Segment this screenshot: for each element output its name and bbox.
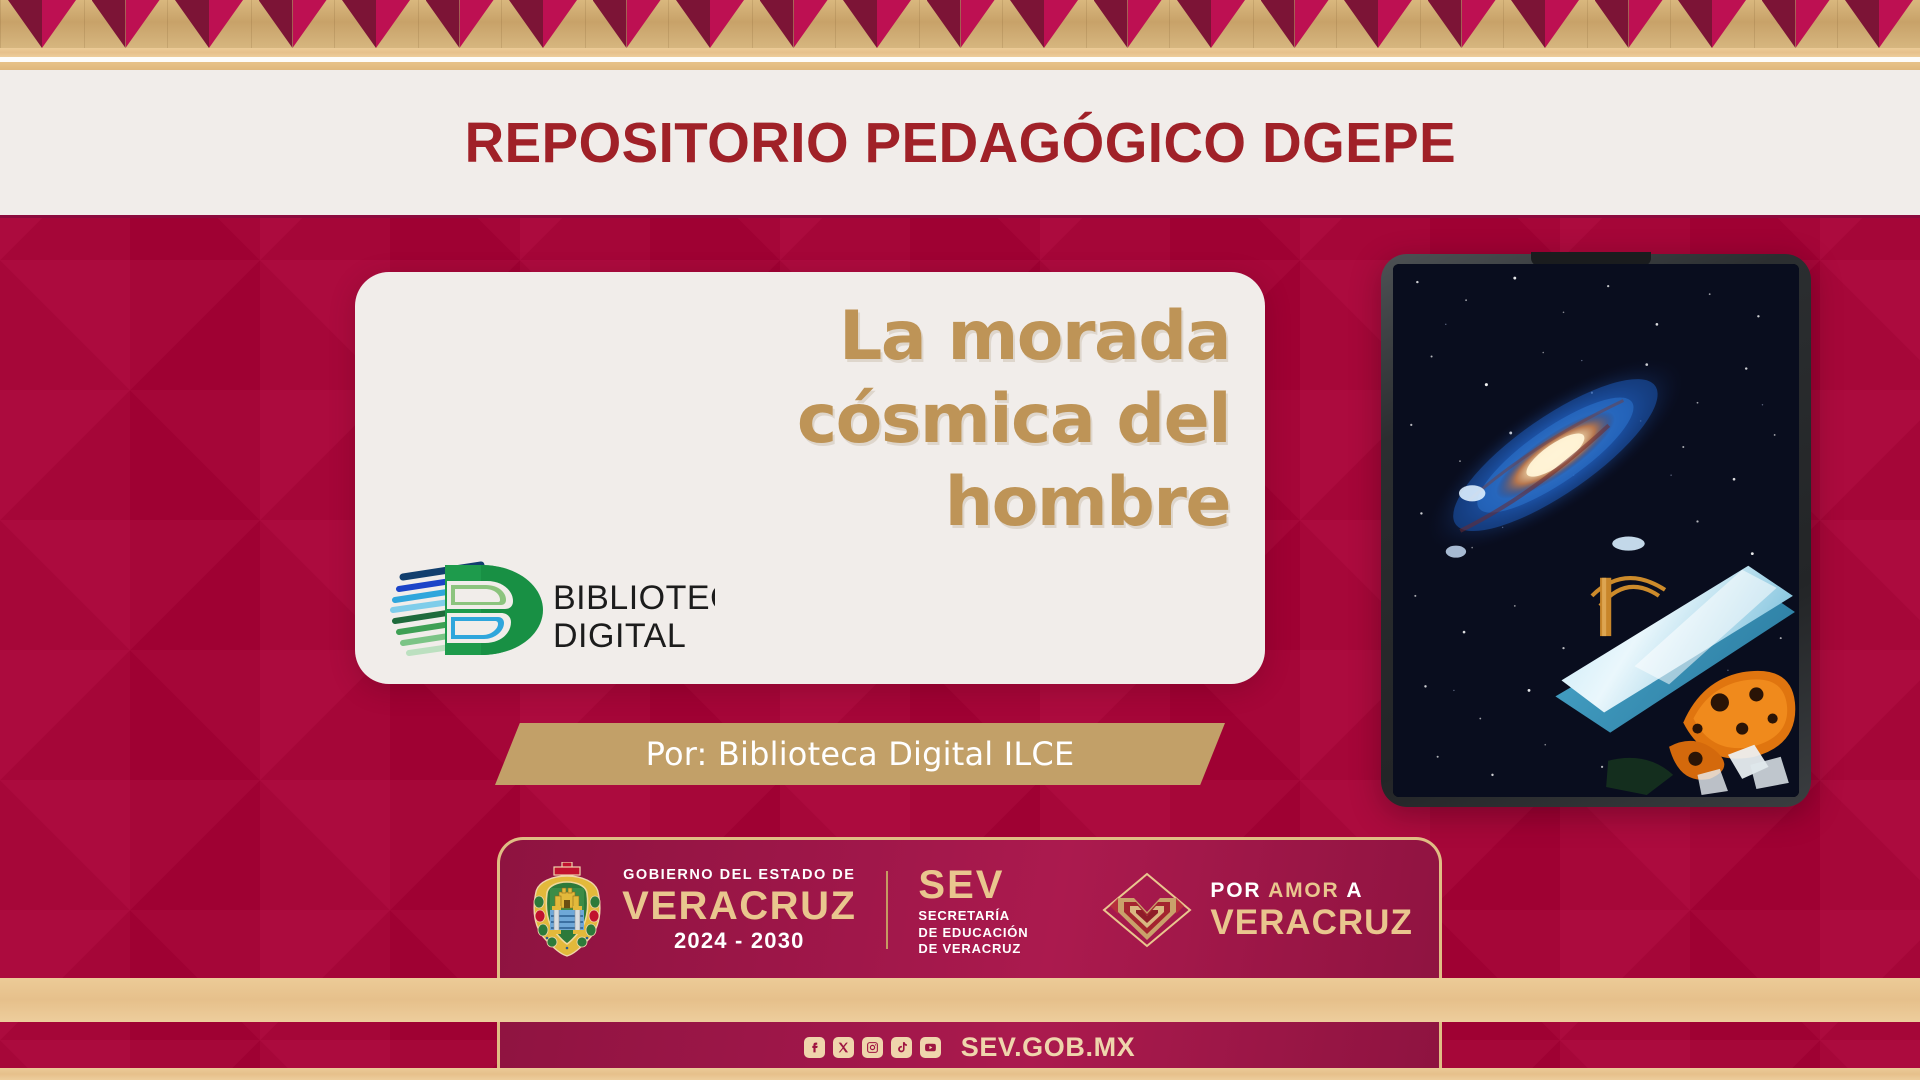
triangle-bright [460,0,494,48]
triangle-unit [167,0,251,48]
triangle-dark [1511,0,1545,48]
book-title-line-1: La morada [700,296,1230,379]
triangle-bright [794,0,828,48]
book-title: La morada cósmica del hombre [700,296,1230,545]
author-banner: Por: Biblioteca Digital ILCE [495,723,1225,785]
svg-text:DIGITAL: DIGITAL [553,617,686,655]
triangle-dark [259,0,293,48]
triangle-bright [627,0,661,48]
tablet-screen [1393,264,1799,797]
author-label: Por: Biblioteca Digital ILCE [646,735,1075,773]
triangle-bright [1796,0,1830,48]
triangle-dark [927,0,961,48]
biblioteca-digital-logo: BIBLIOTECA DIGITAL [385,551,715,659]
sev-subline-1: SECRETARÍA [918,909,1028,923]
social-links-row: SEV.GOB.MX [500,1032,1439,1063]
book-title-line-3: hombre [700,462,1230,545]
triangle-dark [342,0,376,48]
triangle-dark [509,0,543,48]
triangle-bright [42,0,76,48]
top-gold-band [0,48,1920,57]
triangle-unit [919,0,1003,48]
por-amor-a-veracruz-lockup: POR AMOR A VERACRUZ [1100,870,1412,950]
header-bar: REPOSITORIO PEDAGÓGICO DGEPE [0,70,1920,215]
triangle-dark [1344,0,1378,48]
triangle-dark [426,0,460,48]
heart-diamond-mark-icon [1100,870,1194,950]
triangle-bright [877,0,911,48]
triangle-bright [1629,0,1663,48]
amor-highlight: AMOR [1268,879,1339,902]
triangle-dark [1261,0,1295,48]
triangle-dark [1845,0,1879,48]
government-wordmark: GOBIERNO DEL ESTADO DE VERACRUZ 2024 - 2… [622,868,856,952]
triangle-unit [418,0,502,48]
instagram-icon[interactable] [862,1037,883,1058]
triangle-bright [126,0,160,48]
government-lockup: GOBIERNO DEL ESTADO DE VERACRUZ 2024 - 2… [526,862,1028,958]
page-title: REPOSITORIO PEDAGÓGICO DGEPE [464,110,1455,176]
amor-prefix: POR [1210,879,1268,902]
triangle-bright [1295,0,1329,48]
youtube-icon[interactable] [920,1037,941,1058]
triangle-unit [1837,0,1920,48]
svg-text:BIBLIOTECA: BIBLIOTECA [553,579,715,617]
footer-logo-row: GOBIERNO DEL ESTADO DE VERACRUZ 2024 - 2… [500,862,1439,958]
top-triangle-border [0,0,1920,48]
veracruz-coat-of-arms-icon [526,862,608,958]
triangle-unit [334,0,418,48]
sev-lockup: SEV SECRETARÍA DE EDUCACIÓN DE VERACRUZ [918,864,1028,956]
triangle-dark [1762,0,1796,48]
triangle-unit [0,0,84,48]
triangle-unit [1503,0,1587,48]
triangle-dark [1428,0,1462,48]
triangle-dark [676,0,710,48]
triangle-bright [1879,0,1913,48]
triangle-dark [92,0,126,48]
tablet-device-mockup [1381,254,1811,807]
footer-divider [886,871,888,949]
triangle-unit [668,0,752,48]
triangle-bright [1211,0,1245,48]
x-twitter-icon[interactable] [833,1037,854,1058]
triangle-bright [1712,0,1746,48]
triangle-unit [1253,0,1337,48]
government-line-1: GOBIERNO DEL ESTADO DE [623,868,855,883]
footer-panel: GOBIERNO DEL ESTADO DE VERACRUZ 2024 - 2… [497,837,1442,1080]
sev-subline-2: DE EDUCACIÓN [918,926,1028,940]
title-card: La morada cósmica del hombre [355,272,1265,684]
triangle-dark [1678,0,1712,48]
header-bottom-edge [0,215,1920,218]
triangle-bright [1462,0,1496,48]
triangle-unit-row [0,0,1920,48]
triangle-bright [543,0,577,48]
triangle-bright [1378,0,1412,48]
triangle-bright [710,0,744,48]
triangle-unit [84,0,168,48]
triangle-dark [1094,0,1128,48]
triangle-bright [293,0,327,48]
triangle-unit [1420,0,1504,48]
triangle-dark [593,0,627,48]
triangle-dark [8,0,42,48]
bottom-gold-line [0,1068,1920,1080]
amor-suffix: A [1340,879,1364,902]
triangle-bright [1128,0,1162,48]
triangle-bright [1044,0,1078,48]
triangle-unit [1086,0,1170,48]
facebook-icon[interactable] [804,1037,825,1058]
triangle-unit [1670,0,1754,48]
triangle-unit [1002,0,1086,48]
triangle-unit [585,0,669,48]
triangle-bright [1545,0,1579,48]
government-line-2: VERACRUZ [622,886,856,926]
triangle-bright [376,0,410,48]
triangle-bright [209,0,243,48]
amor-wordmark: POR AMOR A VERACRUZ [1210,880,1412,940]
triangle-unit [251,0,335,48]
triangle-unit [835,0,919,48]
triangle-unit [1169,0,1253,48]
triangle-bright [961,0,995,48]
amor-line-2: VERACRUZ [1210,905,1412,940]
triangle-dark [1177,0,1211,48]
triangle-dark [843,0,877,48]
government-line-3: 2024 - 2030 [674,930,805,952]
triangle-dark [175,0,209,48]
tiktok-icon[interactable] [891,1037,912,1058]
triangle-dark [1595,0,1629,48]
triangle-unit [1587,0,1671,48]
triangle-unit [1754,0,1838,48]
site-url-label[interactable]: SEV.GOB.MX [961,1032,1136,1063]
sev-acronym: SEV [918,864,1028,906]
amor-line-1: POR AMOR A [1210,880,1412,901]
top-gold-line [0,62,1920,70]
bottom-gold-band [0,978,1920,1022]
book-title-line-2: cósmica del [700,379,1230,462]
triangle-unit [1336,0,1420,48]
triangle-unit [752,0,836,48]
slide-canvas: REPOSITORIO PEDAGÓGICO DGEPE La morada c… [0,0,1920,1080]
triangle-dark [760,0,794,48]
triangle-unit [501,0,585,48]
sev-subline-3: DE VERACRUZ [918,942,1028,956]
triangle-dark [1010,0,1044,48]
